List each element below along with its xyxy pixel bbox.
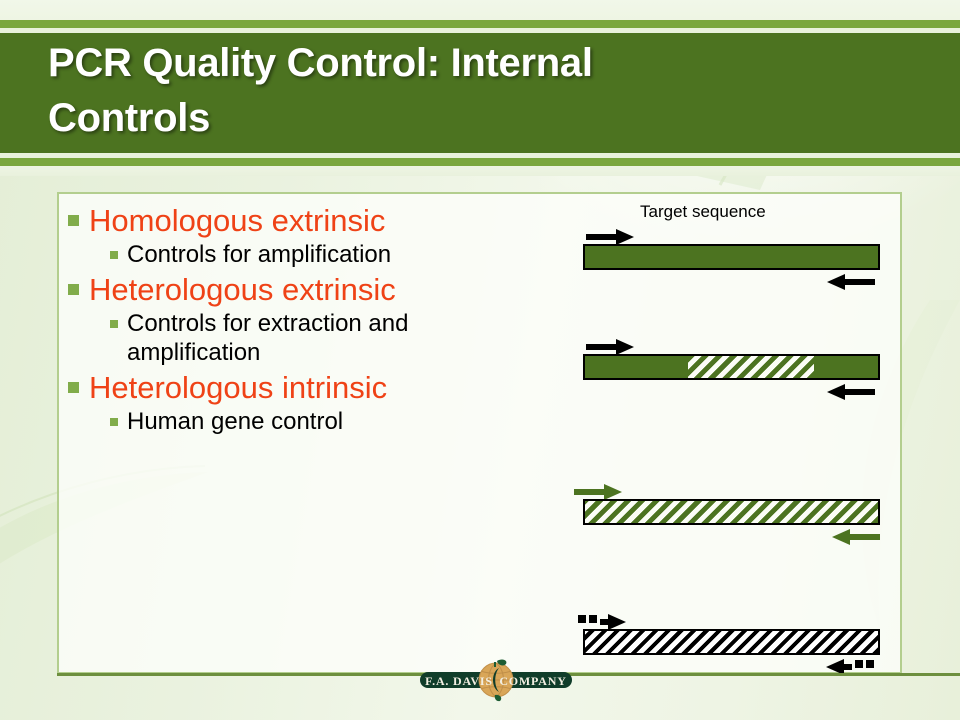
reverse-primer-arrow-icon — [828, 528, 880, 546]
header-top-light-band — [0, 0, 960, 20]
reverse-primer-arrow-icon — [823, 383, 875, 401]
segment-solid — [814, 356, 878, 378]
reverse-primer-arrow-icon — [823, 273, 875, 291]
slide: PCR Quality Control: Internal Controls H… — [0, 0, 960, 720]
header-accent-rule-top — [0, 20, 960, 28]
list-item-label: Controls for amplification — [127, 240, 538, 269]
diagram-row-heterologous-intrinsic — [560, 613, 900, 693]
segment-solid — [585, 356, 688, 378]
list-item-label: Heterologous extrinsic — [89, 271, 538, 308]
header-bottom-light-band — [0, 166, 960, 176]
sequence-diagram-panel: Target sequence — [560, 198, 900, 668]
list-item: Heterologous intrinsic — [68, 369, 538, 406]
logo-text-right: COMPANY — [499, 674, 566, 688]
list-item-label: Homologous extrinsic — [89, 202, 538, 239]
slide-header: PCR Quality Control: Internal Controls — [0, 0, 960, 175]
segment-hatch-green — [688, 356, 814, 378]
list-item: Controls for extraction and amplificatio… — [110, 309, 538, 367]
diagram-row-heterologous-extrinsic-alt — [560, 483, 900, 563]
fa-davis-company-logo: F.A. DAVIS COMPANY — [418, 658, 574, 702]
bullet-list: Homologous extrinsic Controls for amplif… — [68, 200, 538, 436]
header-accent-rule-bottom — [0, 158, 960, 166]
list-item-label: Human gene control — [127, 407, 538, 436]
bullet-square-icon — [110, 320, 118, 328]
segment-solid — [585, 246, 878, 268]
list-item: Controls for amplification — [110, 240, 538, 269]
segment-hatch-black — [585, 631, 878, 653]
sequence-bar — [583, 244, 880, 270]
bullet-square-icon — [68, 382, 79, 393]
diagram-row-homologous-extrinsic — [560, 228, 900, 308]
target-sequence-label: Target sequence — [640, 202, 766, 222]
list-item-label: Controls for extraction and amplificatio… — [127, 309, 538, 367]
segment-hatch-green — [585, 501, 878, 523]
bullet-square-icon — [110, 251, 118, 259]
list-item: Homologous extrinsic — [68, 202, 538, 239]
bullet-square-icon — [68, 284, 79, 295]
bullet-square-icon — [110, 418, 118, 426]
list-item: Human gene control — [110, 407, 538, 436]
bullet-square-icon — [68, 215, 79, 226]
sequence-bar — [583, 629, 880, 655]
page-title: PCR Quality Control: Internal Controls — [48, 36, 908, 146]
diagram-row-heterologous-extrinsic — [560, 338, 900, 418]
sequence-bar — [583, 499, 880, 525]
logo-text-left: F.A. DAVIS — [425, 674, 493, 688]
list-item: Heterologous extrinsic — [68, 271, 538, 308]
list-item-label: Heterologous intrinsic — [89, 369, 538, 406]
sequence-bar — [583, 354, 880, 380]
